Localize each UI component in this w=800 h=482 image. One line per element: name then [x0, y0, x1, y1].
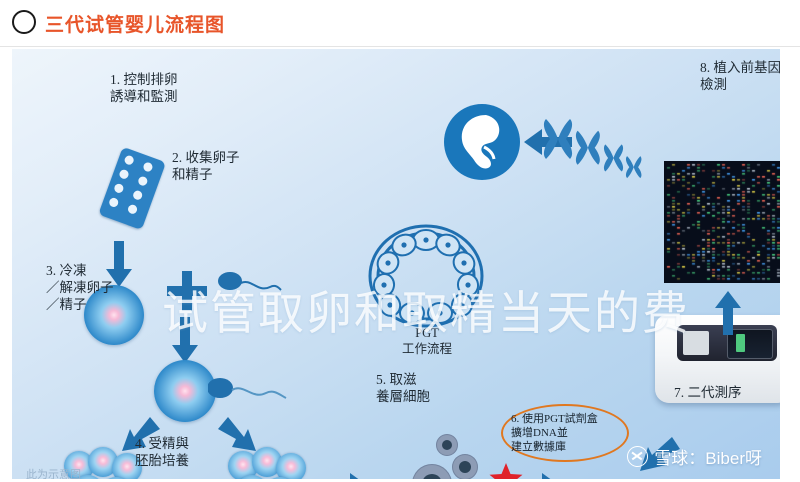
chromosome-x-icon — [540, 117, 660, 200]
dna-sequencing-gel-icon — [664, 161, 780, 283]
brand-label: 雪球：Biber呀 — [654, 444, 762, 469]
step-7-label: 7. 二代測序 — [674, 384, 742, 401]
step-6-label: 6. 使用PGT試劑盒 擴增DNA並 建立數據庫 — [511, 412, 598, 454]
step-2-label: 2. 收集卵子 和精子 — [172, 149, 240, 183]
step-4-label: 4. 受精與 胚胎培養 — [135, 435, 189, 469]
watermark-text: 试管取卵和取精当天的费 — [162, 277, 690, 343]
xueqiu-snowball-icon — [627, 446, 648, 467]
corner-note: 此为示意图 — [26, 466, 81, 479]
step-1-label: 1. 控制排卵 誘導和監測 — [110, 71, 178, 105]
step-8-label: 8. 植入前基因 檢測 — [700, 59, 780, 93]
fertilized-oocyte-icon — [154, 360, 216, 422]
arrow-right-step6 — [512, 473, 560, 479]
pill-blister-pack-icon — [97, 147, 181, 240]
fetus-in-circle-icon — [444, 104, 520, 180]
arrow-right-step5 — [320, 473, 368, 479]
ivf-process-diagram: 1. 控制排卵 誘導和監測 2. 收集卵子 和精子 3. 冷凍 ／解凍卵子 ／精… — [12, 49, 780, 479]
page-header: 三代试管婴儿流程图 — [0, 0, 800, 47]
step-3-label: 3. 冷凍 ／解凍卵子 ／精子 — [46, 262, 114, 313]
embryo-cluster-icon-right — [228, 447, 310, 479]
pgt-caption-line2: 工作流程 — [382, 341, 472, 357]
circle-outline-icon — [12, 10, 36, 34]
arrow-up-step8 — [715, 291, 741, 335]
brand-watermark: 雪球：Biber呀 — [627, 444, 762, 469]
page-title: 三代试管婴儿流程图 — [45, 10, 225, 37]
step-5-label: 5. 取滋 養層細胞 — [376, 371, 430, 405]
sperm-icon — [208, 374, 288, 415]
step-6-callout: 6. 使用PGT試劑盒 擴增DNA並 建立數據庫 — [501, 404, 629, 462]
